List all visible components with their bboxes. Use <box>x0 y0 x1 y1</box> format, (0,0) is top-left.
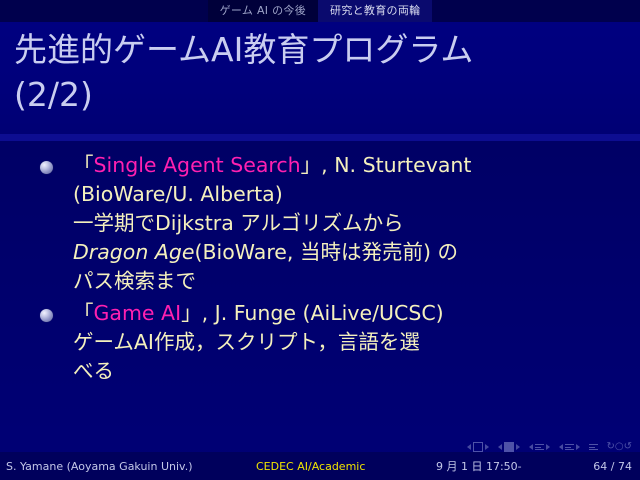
footer-author: S. Yamane (Aoyama Gakuin Univ.) <box>0 460 256 473</box>
slide-body: 「Single Agent Search」, N. Sturtevant (Bi… <box>0 141 640 452</box>
title-divider-rule <box>0 134 640 141</box>
subsection-nav-icon[interactable] <box>529 444 550 450</box>
text-segment: 」, N. Sturtevant <box>301 153 472 177</box>
text-segment: 一学期でDijkstra アルゴリズムから <box>73 211 404 235</box>
slide-title-line-2: (2/2) <box>14 73 626 118</box>
text-segment: べる <box>73 359 114 383</box>
highlight-segment: Game AI <box>94 301 182 325</box>
nav-tab-section-previous[interactable]: ゲーム AI の今後 <box>208 0 318 22</box>
bullet-text: 「Game AI」, J. Funge (AiLive/UCSC) ゲームAI作… <box>73 299 444 386</box>
text-segment: (BioWare, 当時は発売前) の <box>195 240 458 264</box>
slide-canvas: ゲーム AI の今後 研究と教育の両輪 先進的ゲームAI教育プログラム (2/2… <box>0 0 640 480</box>
highlight-segment: Single Agent Search <box>94 153 301 177</box>
text-segment: (BioWare/U. Alberta) <box>73 182 283 206</box>
footer-date: 9 月 1 日 17:50- <box>436 458 556 474</box>
bullet-text: 「Single Agent Search」, N. Sturtevant (Bi… <box>73 151 471 297</box>
bullet-line: 一学期でDijkstra アルゴリズムから <box>73 209 471 238</box>
text-segment: 「 <box>73 153 94 177</box>
text-segment: パス検索まで <box>73 269 196 293</box>
italic-segment: Dragon Age <box>73 240 195 264</box>
back-find-forward-nav-icon[interactable]: ↻○↺ <box>607 442 632 452</box>
nav-tab-section-current[interactable]: 研究と教育の両輪 <box>318 0 432 22</box>
presentation-nav-icon[interactable] <box>589 444 598 450</box>
frame-nav-icon[interactable] <box>498 442 520 452</box>
bullet-line: パス検索まで <box>73 267 471 296</box>
bullet-line: (BioWare/U. Alberta) <box>73 180 471 209</box>
bullet-line: Dragon Age(BioWare, 当時は発売前) の <box>73 238 471 267</box>
bullet-line: 「Single Agent Search」, N. Sturtevant <box>73 151 471 180</box>
slide-title-line-1: 先進的ゲームAI教育プログラム <box>14 28 626 73</box>
list-item: 「Single Agent Search」, N. Sturtevant (Bi… <box>40 151 626 297</box>
bullet-line: べる <box>73 357 444 386</box>
ball-bullet-icon <box>40 309 53 322</box>
text-segment: 」, J. Funge (AiLive/UCSC) <box>181 301 444 325</box>
bullet-line: ゲームAI作成，スクリプト，言語を選 <box>73 328 444 357</box>
section-nav-icon[interactable] <box>559 444 580 450</box>
bullet-line: 「Game AI」, J. Funge (AiLive/UCSC) <box>73 299 444 328</box>
list-item: 「Game AI」, J. Funge (AiLive/UCSC) ゲームAI作… <box>40 299 626 386</box>
footer-venue: CEDEC AI/Academic <box>256 460 436 473</box>
text-segment: 「 <box>73 301 94 325</box>
slide-nav-icon[interactable] <box>467 442 489 452</box>
text-segment: ゲームAI作成，スクリプト，言語を選 <box>73 330 420 354</box>
header-navigation-bar: ゲーム AI の今後 研究と教育の両輪 <box>0 0 640 22</box>
footer-page-number: 64 / 74 <box>556 460 640 473</box>
slide-title-block: 先進的ゲームAI教育プログラム (2/2) <box>0 22 640 134</box>
ball-bullet-icon <box>40 161 53 174</box>
footer-bar: S. Yamane (Aoyama Gakuin Univ.) CEDEC AI… <box>0 452 640 480</box>
